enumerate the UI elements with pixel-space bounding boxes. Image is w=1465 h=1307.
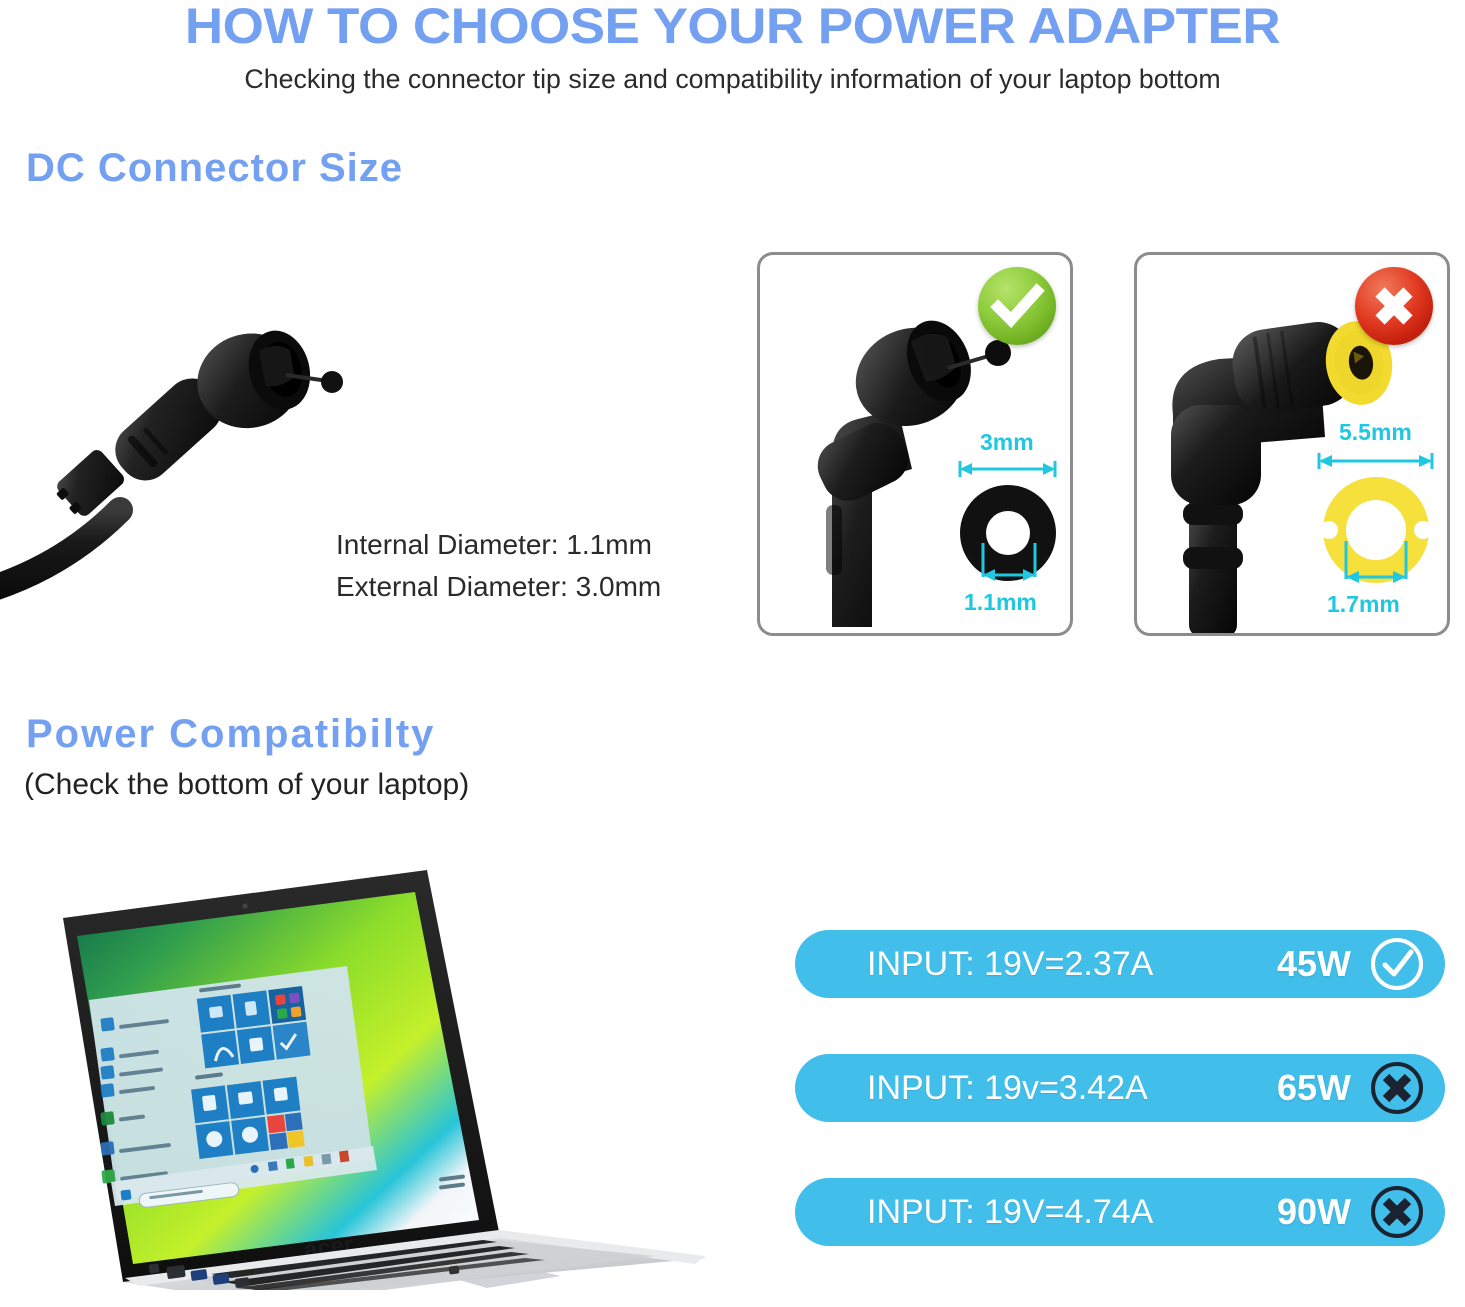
badge-input-label: INPUT: 19v=3.42A [867, 1069, 1148, 1108]
power-input-badge[interactable]: INPUT: 19V=4.74A 90W [795, 1178, 1445, 1246]
x-glyph [1355, 267, 1433, 345]
outer-dimension-arrow [1315, 449, 1437, 471]
inner-diameter-label: 1.7mm [1327, 591, 1400, 618]
power-input-badge-list: INPUT: 19V=2.37A 45W INPUT: 19v=3.42A 65… [795, 930, 1445, 1302]
check-circle-glyph [1369, 936, 1425, 992]
red-x-icon [1355, 267, 1433, 345]
x-icon [1369, 1184, 1425, 1240]
page-subtitle: Checking the connector tip size and comp… [7, 62, 1457, 96]
outer-dimension-arrow [956, 457, 1060, 479]
badge-wattage-label: 65W [1277, 1067, 1351, 1109]
check-icon [1369, 936, 1425, 992]
laptop-photo: acer [55, 860, 715, 1290]
internal-diameter-label: Internal Diameter: 1.1mm [336, 524, 661, 566]
inner-dimension-arrow [1343, 541, 1409, 593]
external-diameter-label: External Diameter: 3.0mm [336, 566, 661, 608]
dimension-diagram-incompatible: 5.5mm 1.7mm [1315, 423, 1437, 623]
badge-wattage-label: 90W [1277, 1191, 1351, 1233]
outer-diameter-label: 3mm [980, 429, 1034, 456]
inner-diameter-label: 1.1mm [964, 589, 1037, 616]
green-check-icon [978, 267, 1056, 345]
check-glyph [978, 267, 1056, 345]
badge-input-label: INPUT: 19V=4.74A [867, 1193, 1153, 1232]
badge-input-label: INPUT: 19V=2.37A [867, 945, 1153, 984]
section-subheading-power-compatibility: (Check the bottom of your laptop) [24, 768, 469, 802]
badge-wattage-label: 45W [1277, 943, 1351, 985]
dimension-diagram-compatible: 3mm 1.1mm [956, 433, 1060, 621]
connector-ring-notch-left [1320, 521, 1338, 539]
inner-dimension-arrow [980, 543, 1038, 589]
x-icon [1369, 1060, 1425, 1116]
section-heading-dc-connector: DC Connector Size [26, 146, 403, 191]
section-heading-power-compatibility: Power Compatibilty [26, 712, 435, 757]
laptop-illustration: acer [55, 860, 715, 1290]
outer-diameter-label: 5.5mm [1339, 419, 1412, 446]
x-circle-glyph [1369, 1184, 1425, 1240]
comparison-box-incompatible: 5.5mm 1.7mm [1134, 252, 1450, 636]
power-input-badge[interactable]: INPUT: 19V=2.37A 45W [795, 930, 1445, 998]
page-title: HOW TO CHOOSE YOUR POWER ADAPTER [0, 0, 1465, 54]
connector-dimensions: Internal Diameter: 1.1mm External Diamet… [336, 524, 661, 608]
power-input-badge[interactable]: INPUT: 19v=3.42A 65W [795, 1054, 1445, 1122]
comparison-box-compatible: 3mm 1.1mm [757, 252, 1073, 636]
connector-ring-notch-right [1414, 521, 1432, 539]
x-circle-glyph [1369, 1060, 1425, 1116]
